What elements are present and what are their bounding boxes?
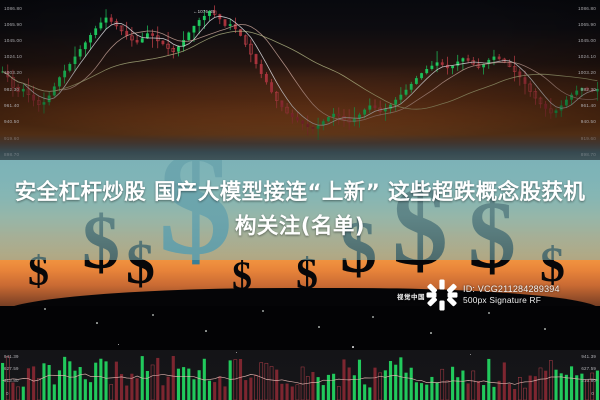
price-annotation: ←1076.45: [193, 9, 215, 14]
price-axis-left-5: 982.30: [4, 87, 19, 92]
watermark-id: ID: VCG211284289394: [463, 284, 560, 295]
volume-chart-canvas: [0, 350, 600, 400]
price-axis-left-2: 1045.00: [4, 38, 22, 43]
price-axis-right-1: 1065.90: [578, 22, 596, 27]
price-axis-right-4: 1003.20: [578, 70, 596, 75]
watermark-brand-cn: 视觉中国: [397, 291, 425, 301]
star-speck: [352, 346, 354, 348]
volume-axis-right-0: 941.39: [581, 354, 596, 359]
bokeh-speck: [488, 312, 490, 314]
asterisk-burst-icon: [425, 278, 459, 312]
bokeh-speck: [205, 330, 207, 332]
watermark-license: 500px Signature RF: [463, 295, 560, 306]
volume-axis-left-2: 313.80: [4, 378, 19, 383]
price-axis-right-5: 982.30: [581, 87, 596, 92]
price-axis-right-6: 961.40: [581, 103, 596, 108]
watermark-text: ID: VCG211284289394 500px Signature RF: [463, 284, 560, 306]
chart-vignette: [0, 0, 600, 160]
volume-axis-right-2: 313.80: [581, 378, 596, 383]
bokeh-speck: [430, 332, 432, 334]
ground-foreground: [0, 306, 600, 350]
dollar-sign-silhouette: $: [296, 256, 318, 292]
price-axis-left-7: 940.50: [4, 119, 19, 124]
bokeh-speck: [44, 308, 46, 310]
price-axis-left-6: 961.40: [4, 103, 19, 108]
bokeh-speck: [262, 310, 264, 312]
price-axis-left-3: 1024.10: [4, 54, 22, 59]
dollar-sign-silhouette: $: [28, 255, 49, 289]
headline-text: 安全杠杆炒股 国产大模型接连“上新” 这些超跌概念股获机构关注(名单): [11, 176, 589, 244]
bokeh-speck: [318, 326, 320, 328]
price-axis-right-7: 940.50: [581, 119, 596, 124]
screenshot-root: 1086.80 1065.90 1045.00 1024.10 1003.20 …: [0, 0, 600, 400]
price-chart[interactable]: 1086.80 1065.90 1045.00 1024.10 1003.20 …: [0, 0, 600, 160]
price-axis-left-1: 1065.90: [4, 22, 22, 27]
volume-chart[interactable]: 941.39 627.59 313.80 0 941.39 627.59 313…: [0, 350, 600, 400]
price-axis-left-4: 1003.20: [4, 70, 22, 75]
bokeh-speck: [96, 322, 98, 324]
volume-axis-left-1: 627.59: [4, 366, 19, 371]
volume-axis-left-3: 0: [6, 391, 9, 396]
volume-axis-right-1: 627.59: [581, 366, 596, 371]
price-axis-left-8: 919.60: [4, 136, 19, 141]
headline: 安全杠杆炒股 国产大模型接连“上新” 这些超跌概念股获机构关注(名单): [0, 160, 600, 260]
price-axis-right-2: 1045.00: [578, 38, 596, 43]
price-axis-right-9: 898.70: [581, 152, 596, 157]
bokeh-speck: [544, 328, 546, 330]
price-axis-right-0: 1086.80: [578, 6, 596, 11]
price-axis-right-8: 919.60: [581, 136, 596, 141]
watermark: 视觉中国 ID: VCG211284289394 500px Signature…: [425, 278, 560, 312]
price-axis-left-9: 898.70: [4, 152, 19, 157]
volume-axis-left-0: 941.39: [4, 354, 19, 359]
price-axis-right-3: 1024.10: [578, 54, 596, 59]
price-axis-left-0: 1086.80: [4, 6, 22, 11]
volume-axis-right-3: 0: [591, 391, 594, 396]
